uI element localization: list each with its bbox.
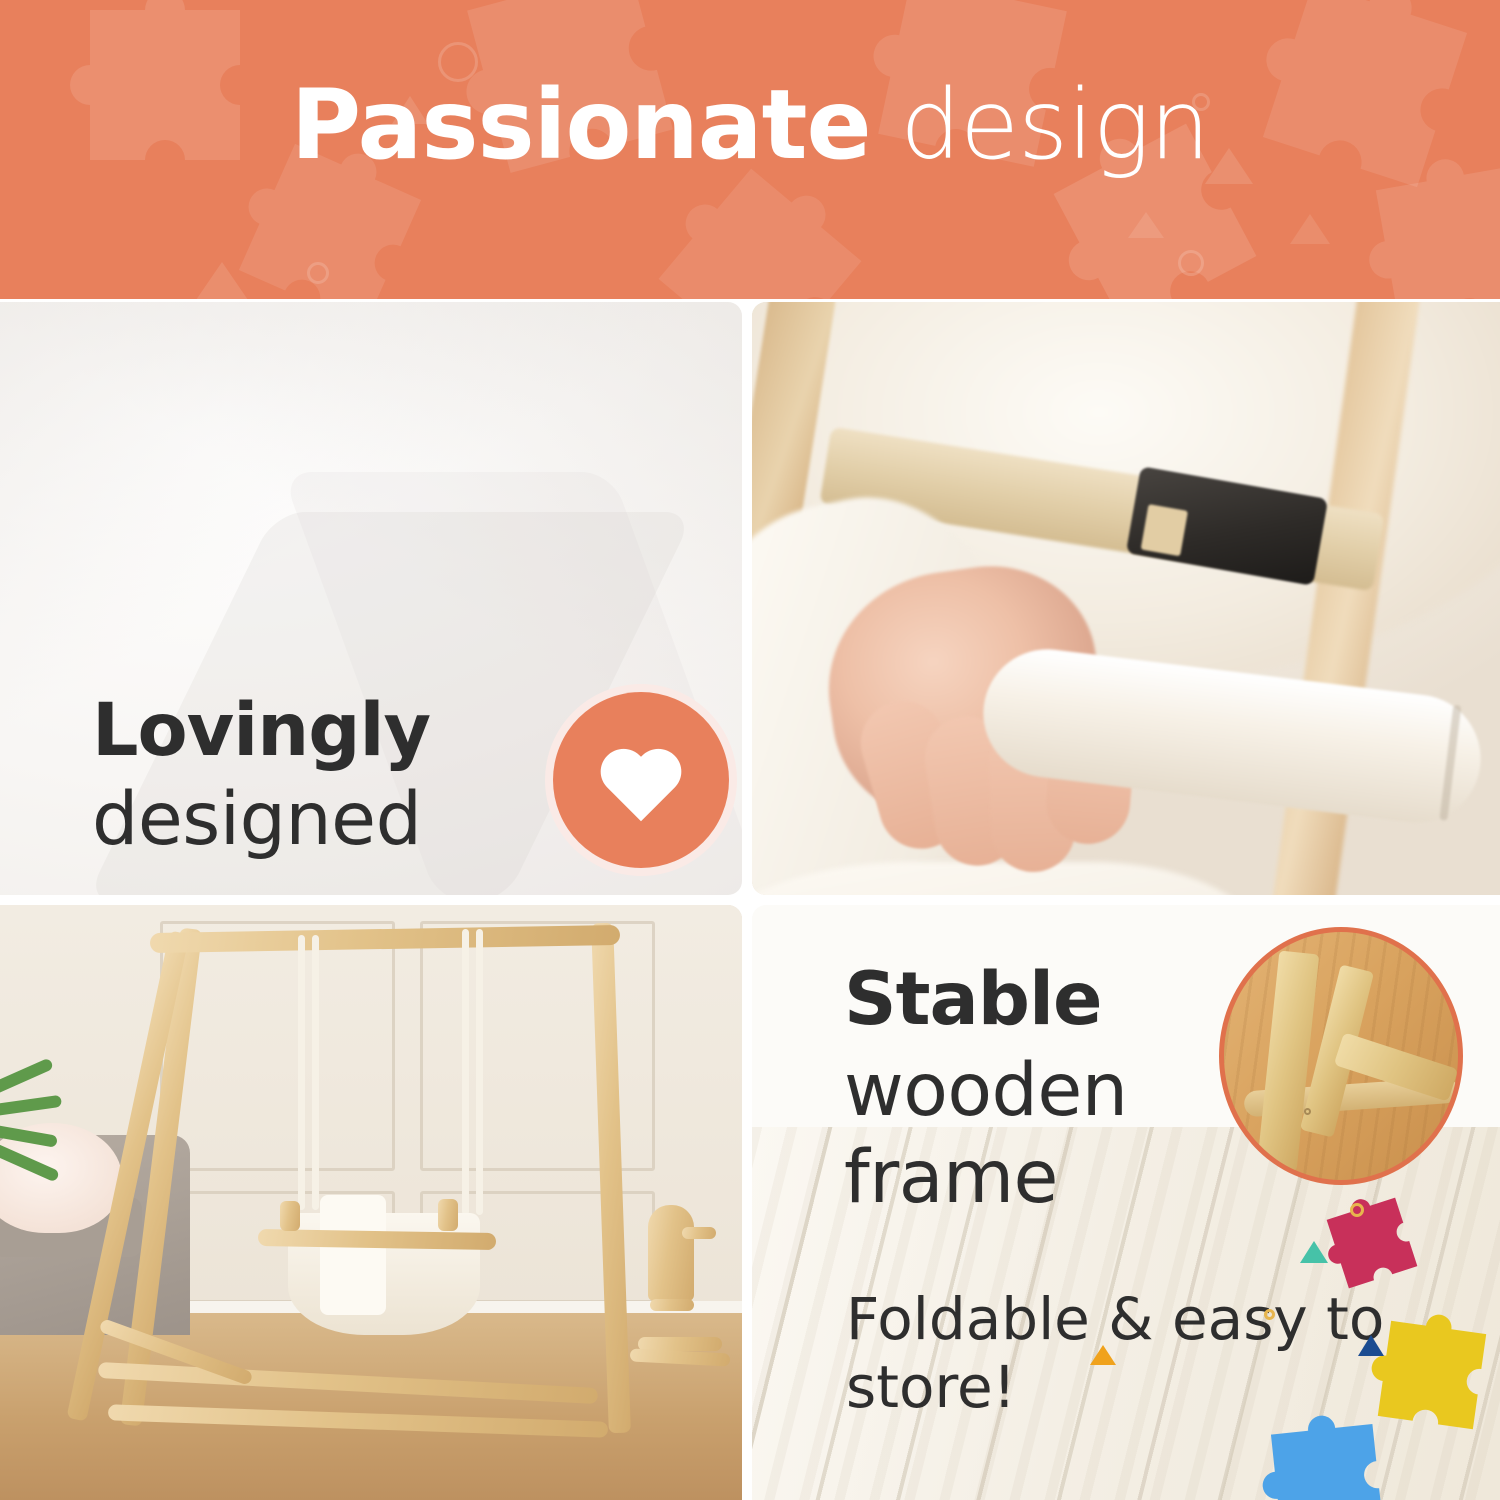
wooden-frame-detail-badge [1219, 927, 1463, 1185]
baby-swing-belt-photo [752, 302, 1500, 895]
circle-outline-icon [1264, 1309, 1275, 1320]
page-title: Passionate design [0, 76, 1500, 176]
triangle-navy-icon [1358, 1335, 1384, 1356]
swing-rope-right [462, 929, 469, 1215]
page-title-bold: Passionate [291, 69, 871, 181]
panel-heading-lovingly: Lovingly designed [92, 694, 430, 856]
triangle-decor-icon [196, 262, 248, 299]
panel-heading-light-2: frame [844, 1141, 1128, 1214]
header-banner: Passionate design [0, 0, 1500, 299]
circle-decor-icon [1178, 250, 1204, 276]
heart-icon [553, 692, 729, 868]
page-title-light: design [900, 69, 1209, 181]
circle-outline-icon [1350, 1203, 1364, 1217]
feature-panel-stable-frame: Stable wooden frame Foldable & easy to s… [752, 905, 1500, 1500]
triangle-teal-icon [1300, 1241, 1328, 1263]
triangle-decor-icon [1290, 214, 1330, 244]
panel-heading-bold: Stable [844, 963, 1128, 1036]
triangle-orange-icon [1090, 1345, 1116, 1365]
photo-baby-in-swing [752, 302, 1500, 895]
swing-rope-left [298, 935, 305, 1210]
panel-heading-bold: Lovingly [92, 694, 430, 767]
heart-badge [545, 684, 737, 876]
feature-panel-lovingly-designed: Lovingly designed Made of high quality, … [0, 302, 742, 895]
panel-heading-light: designed [92, 783, 430, 856]
panel-heading-light-1: wooden [844, 1054, 1128, 1127]
photo-wooden-swing-nursery [0, 905, 742, 1500]
rocking-horse-toy [630, 1205, 730, 1365]
circle-decor-icon [307, 262, 329, 284]
panel-heading-stable: Stable wooden frame [844, 963, 1128, 1214]
puzzle-piece-blue-icon [1234, 1387, 1421, 1500]
triangle-decor-icon [1128, 212, 1164, 238]
infographic-canvas: Passionate design Lovingly designed Made… [0, 0, 1500, 1500]
plant-decor [0, 1083, 104, 1155]
nursery-swing-photo [0, 905, 742, 1500]
